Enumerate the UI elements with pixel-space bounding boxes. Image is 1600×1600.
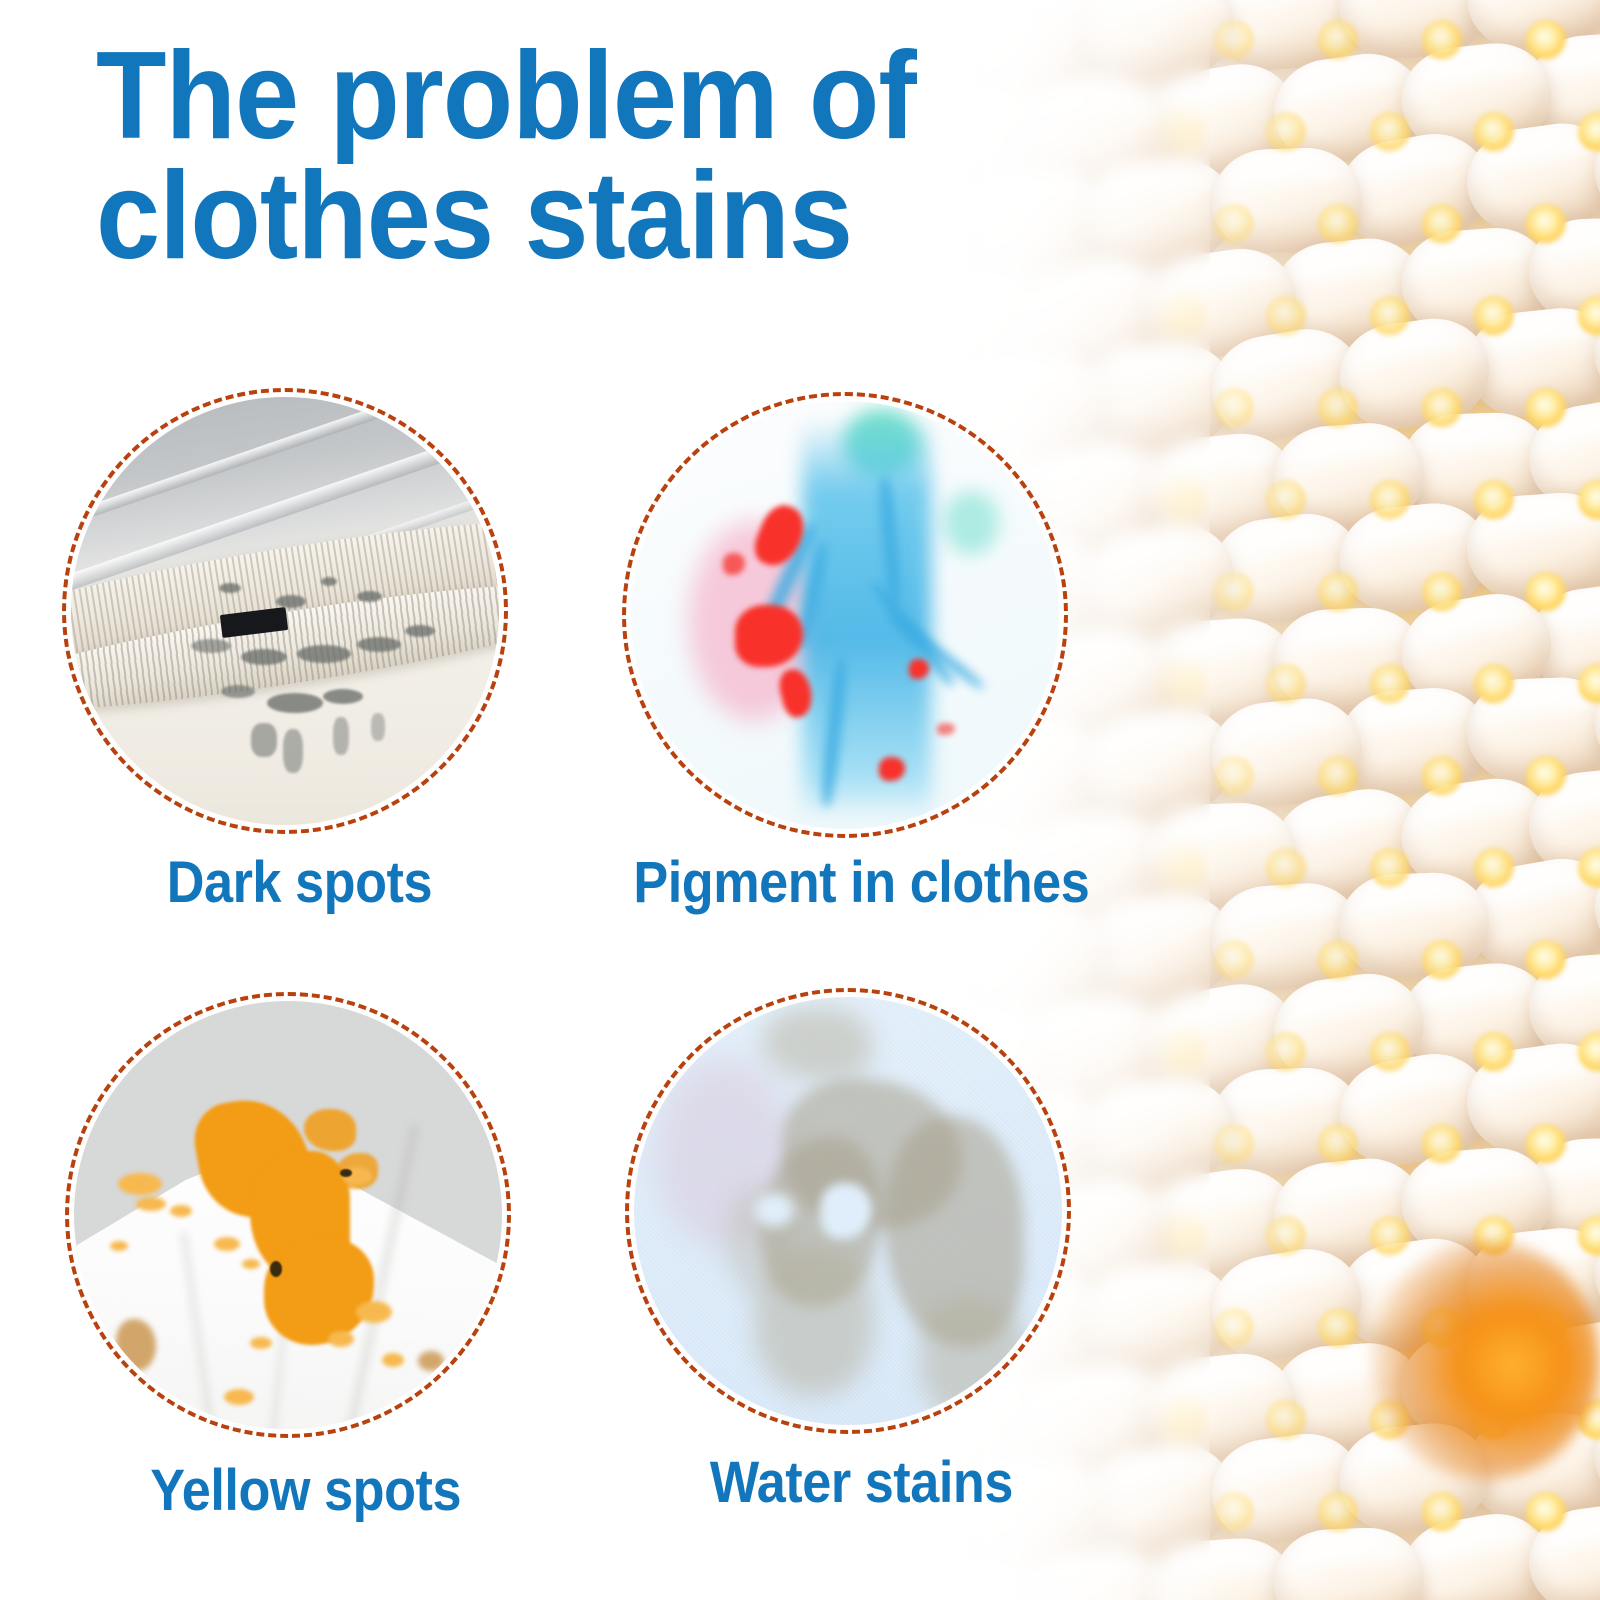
stain-caption-yellow-spots: Yellow spots xyxy=(150,1462,461,1520)
stain-caption-pigment: Pigment in clothes xyxy=(633,854,1089,912)
stain-card-dark-spots: Dark spots xyxy=(62,388,512,948)
stain-photo-yellow-spots xyxy=(65,992,511,1438)
stain-caption-dark-spots: Dark spots xyxy=(167,854,432,912)
photo-collar-illustration xyxy=(71,397,499,825)
stain-card-water-stains: Water stains xyxy=(625,988,1075,1548)
stain-card-pigment: Pigment in clothes xyxy=(622,392,1072,952)
stain-caption-water-stains: Water stains xyxy=(710,1454,1013,1512)
photo-water-stain-illustration xyxy=(634,997,1062,1425)
photo-food-stain-illustration xyxy=(74,1001,502,1429)
stain-photo-pigment xyxy=(622,392,1068,838)
stain-card-yellow-spots: Yellow spots xyxy=(65,992,515,1552)
stain-photo-dark-spots xyxy=(62,388,508,834)
page-title: The problem of clothes stains xyxy=(96,36,1100,277)
poster-canvas: The problem of clothes stains xyxy=(0,0,1600,1600)
photo-dye-illustration xyxy=(631,401,1059,829)
stain-photo-water-stains xyxy=(625,988,1071,1434)
